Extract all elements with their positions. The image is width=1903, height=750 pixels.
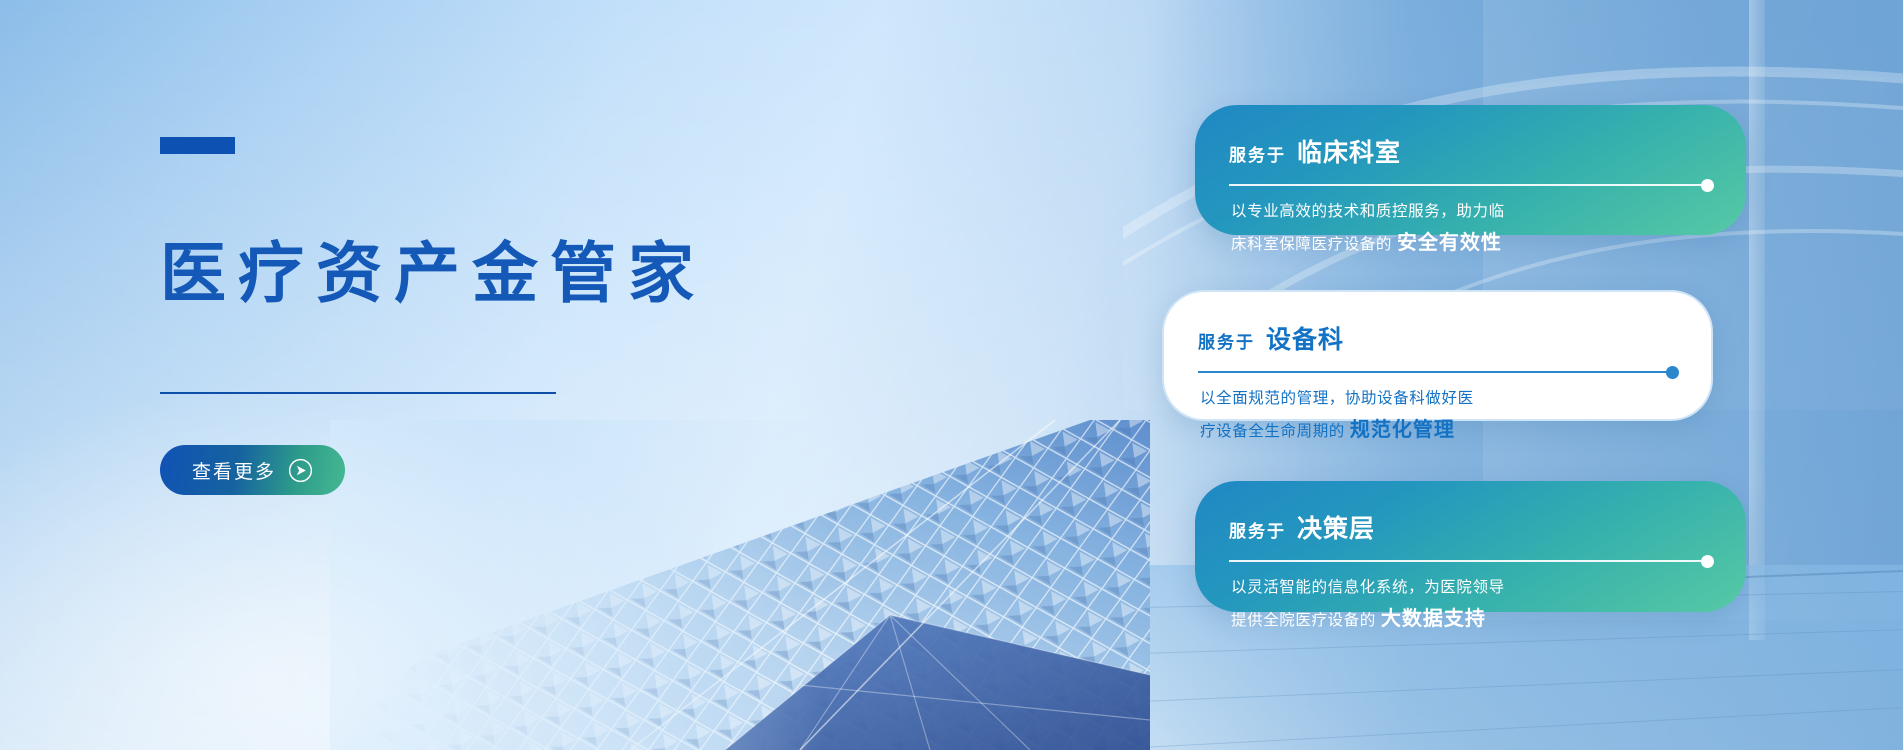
service-card-clinical-department[interactable]: 服务于 临床科室 以专业高效的技术和质控服务，助力临 床科室保障医疗设备的 安全… (1195, 105, 1746, 235)
card-heading-target: 临床科室 (1297, 133, 1401, 169)
view-more-button[interactable]: 查看更多 (160, 445, 345, 495)
service-card-equipment-department[interactable]: 服务于 设备科 以全面规范的管理，协助设备科做好医 疗设备全生命周期的 规范化管… (1162, 290, 1713, 421)
card-heading: 服务于 临床科室 (1229, 133, 1712, 169)
card-body-line-2: 床科室保障医疗设备的 安全有效性 (1229, 226, 1712, 261)
card-body-line-1: 以灵活智能的信息化系统，为医院领导 (1229, 575, 1712, 602)
view-more-label: 查看更多 (192, 457, 276, 484)
card-body-line-2-plain: 床科室保障医疗设备的 (1231, 236, 1392, 253)
divider-dot (1701, 179, 1714, 192)
card-heading-target: 设备科 (1266, 320, 1344, 356)
accent-bar (160, 137, 235, 154)
divider-dot (1701, 555, 1714, 568)
card-heading: 服务于 设备科 (1198, 320, 1677, 356)
card-body-line-2-plain: 提供全院医疗设备的 (1231, 612, 1376, 629)
card-body-line-2: 疗设备全生命周期的 规范化管理 (1198, 413, 1677, 448)
card-body-line-2: 提供全院医疗设备的 大数据支持 (1229, 602, 1712, 637)
divider-line (1229, 560, 1706, 562)
service-card-list: 服务于 临床科室 以专业高效的技术和质控服务，助力临 床科室保障医疗设备的 安全… (1195, 0, 1795, 750)
divider-line (1229, 184, 1706, 186)
card-body: 以专业高效的技术和质控服务，助力临 床科室保障医疗设备的 安全有效性 (1229, 199, 1712, 261)
card-divider (1198, 367, 1677, 377)
divider-line (1198, 371, 1671, 373)
card-body: 以全面规范的管理，协助设备科做好医 疗设备全生命周期的 规范化管理 (1198, 386, 1677, 448)
card-body-line-1: 以专业高效的技术和质控服务，助力临 (1229, 199, 1712, 226)
circle-arrow-right-icon (288, 458, 313, 483)
card-heading-prefix: 服务于 (1198, 328, 1255, 353)
card-body-emphasis: 规范化管理 (1350, 419, 1455, 441)
page-title: 医疗资产金管家 (160, 240, 706, 306)
service-card-decision-layer[interactable]: 服务于 决策层 以灵活智能的信息化系统，为医院领导 提供全院医疗设备的 大数据支… (1195, 481, 1746, 612)
card-body-emphasis: 安全有效性 (1397, 232, 1502, 254)
card-body-line-1: 以全面规范的管理，协助设备科做好医 (1198, 386, 1677, 413)
horizontal-divider (160, 392, 556, 394)
card-body: 以灵活智能的信息化系统，为医院领导 提供全院医疗设备的 大数据支持 (1229, 575, 1712, 637)
card-heading: 服务于 决策层 (1229, 509, 1712, 545)
banner-stage: 医疗资产金管家 查看更多 服务于 临床科室 以专业高效的技术和质控服务，助力临 (0, 0, 1903, 750)
card-body-emphasis: 大数据支持 (1381, 608, 1486, 630)
hero-copy-block: 医疗资产金管家 查看更多 (160, 0, 800, 750)
card-heading-prefix: 服务于 (1229, 141, 1286, 166)
card-heading-prefix: 服务于 (1229, 517, 1286, 542)
divider-dot (1666, 366, 1679, 379)
card-body-line-2-plain: 疗设备全生命周期的 (1200, 423, 1345, 440)
card-divider (1229, 180, 1712, 190)
card-heading-target: 决策层 (1297, 509, 1375, 545)
card-divider (1229, 556, 1712, 566)
